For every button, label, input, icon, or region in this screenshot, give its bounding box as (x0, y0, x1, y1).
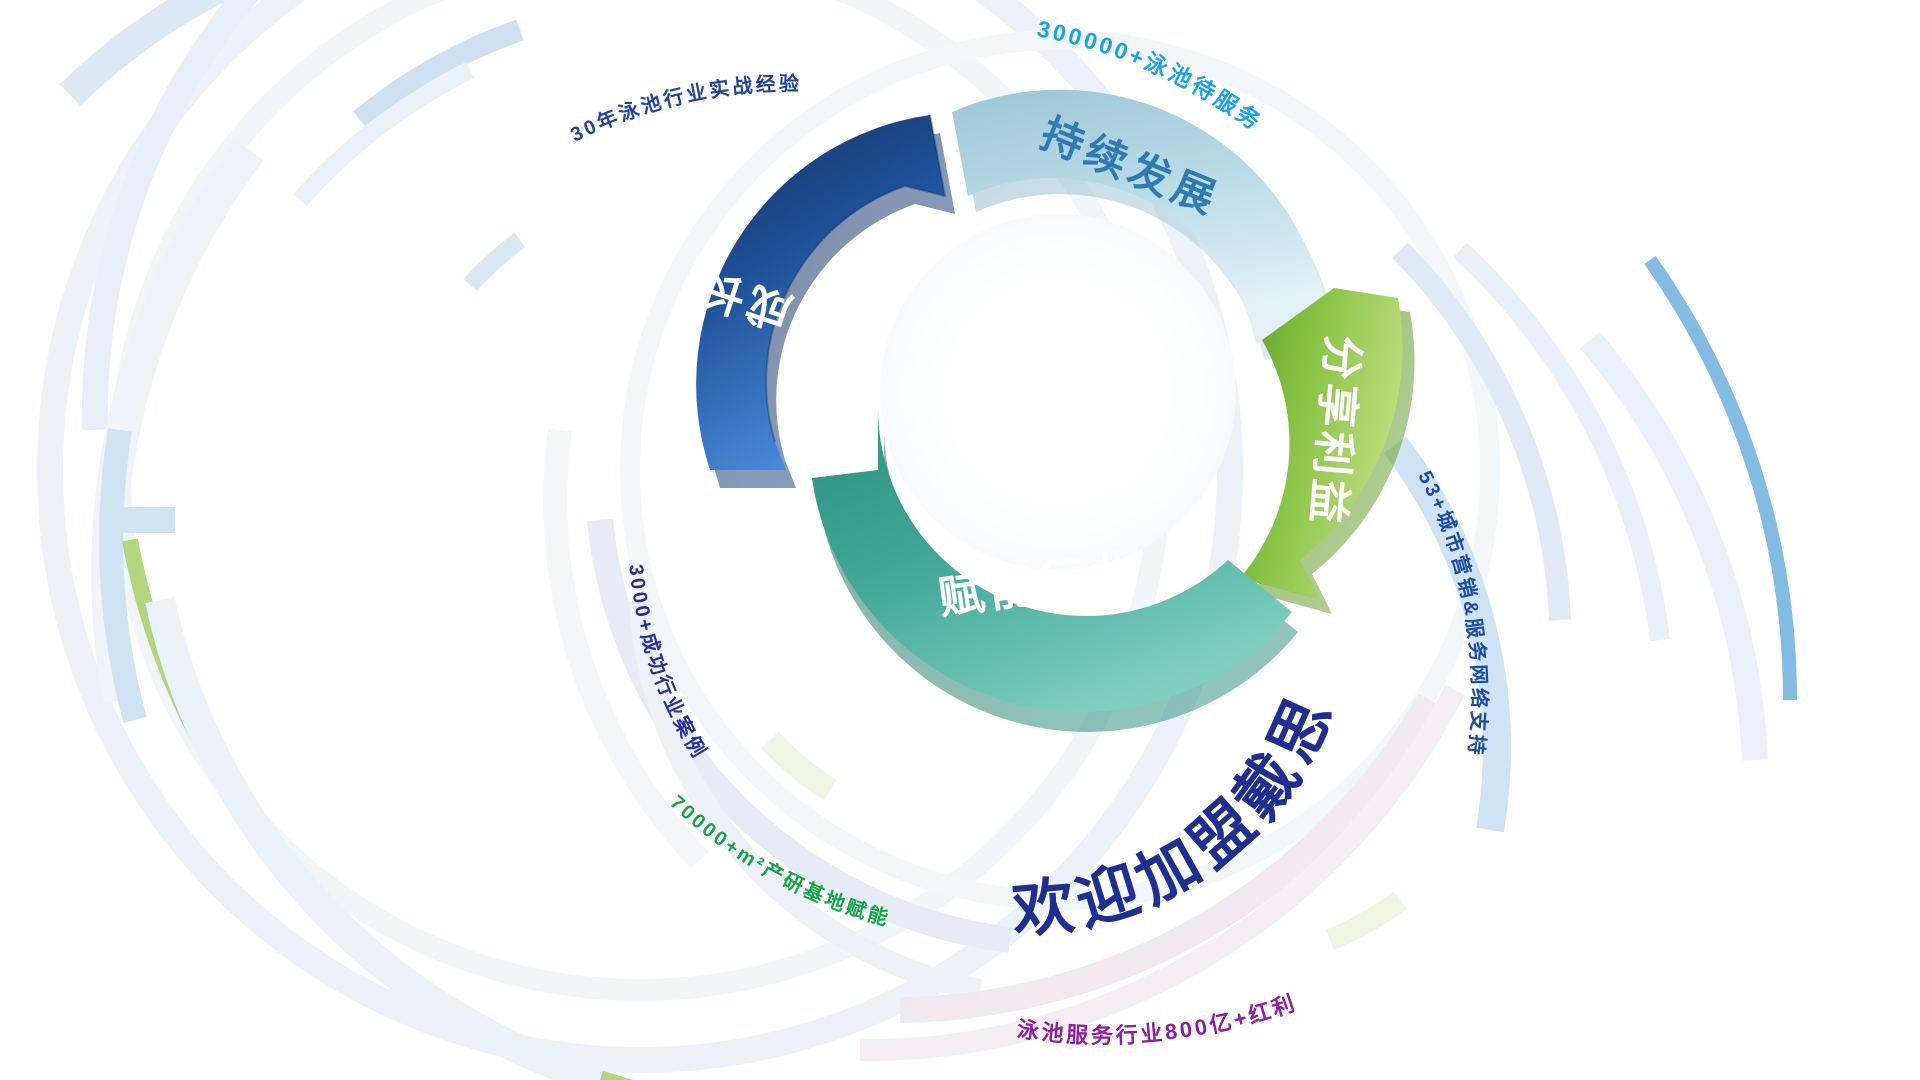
poster-svg: 共同成长 持续发展 分享利益 赋能行业 30年泳池行业实战经验 300000+泳… (0, 0, 1920, 1080)
poster-canvas: 共同成长 持续发展 分享利益 赋能行业 30年泳池行业实战经验 300000+泳… (0, 0, 1920, 1080)
orbit-label-experience: 30年泳池行业实战经验 (567, 71, 802, 146)
cycle-center (880, 214, 1236, 570)
